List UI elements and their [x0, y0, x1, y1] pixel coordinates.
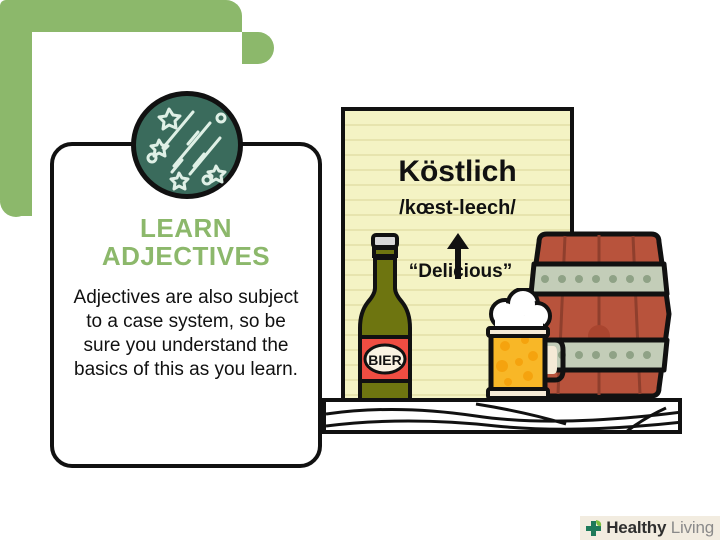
brand-logo-text: Healthy Living [606, 518, 714, 538]
green-cross-leaf-icon [584, 519, 603, 538]
footer-strip: Healthy Living [0, 516, 728, 546]
card-heading-line1: LEARN [140, 213, 232, 243]
german-word: Köstlich [345, 155, 570, 189]
brand-logo-bold: Healthy [606, 518, 666, 537]
card-heading-line2: ADJECTIVES [54, 242, 318, 270]
card-body-text: Adjectives are also subject to a case sy… [70, 286, 302, 382]
corner-bracket-cap [242, 32, 274, 64]
phonetic-spelling: /kœst-leech/ [345, 197, 570, 220]
brand-logo-light: Living [666, 518, 714, 537]
stars-and-sparkles-icon [131, 91, 243, 199]
wooden-plank [322, 398, 682, 434]
brand-logo[interactable]: Healthy Living [580, 516, 720, 540]
beer-bottle: BIER [352, 232, 418, 407]
card-heading: LEARN ADJECTIVES [54, 214, 318, 270]
svg-text:BIER: BIER [368, 352, 401, 368]
infographic-canvas: Köstlich /kœst-leech/ “Delicious” [0, 0, 728, 546]
beer-mug [483, 288, 567, 403]
